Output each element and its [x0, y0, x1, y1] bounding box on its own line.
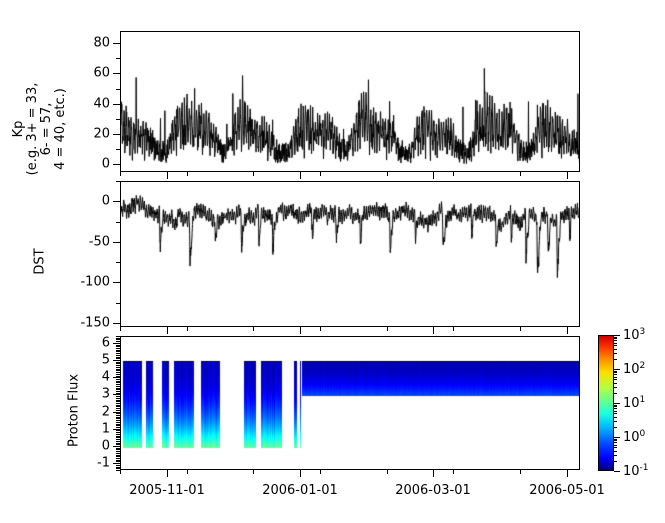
- colorbar-tick-minor: [614, 371, 617, 372]
- y-tick-minor: [116, 336, 120, 337]
- kp-axis-label-line-3: 4 = 40, etc.): [54, 49, 68, 209]
- y-tick-minor: [116, 181, 120, 182]
- y-tick-minor: [116, 388, 120, 389]
- y-tick-minor: [116, 449, 120, 450]
- proton-flux-panel: [120, 336, 580, 470]
- y-tick-minor: [116, 396, 120, 397]
- y-tick-minor: [116, 363, 120, 364]
- y-tick-minor: [116, 425, 120, 426]
- colorbar-tick-major: [614, 335, 620, 336]
- y-tick-major: [113, 463, 120, 464]
- x-tick-minor: [387, 327, 388, 331]
- y-tick-minor: [116, 370, 120, 371]
- y-tick-minor: [116, 443, 120, 444]
- x-tick-minor: [187, 172, 188, 176]
- y-tick-major: [113, 360, 120, 361]
- dst-axis-label: DST: [33, 232, 48, 292]
- colorbar-tick-minor: [614, 408, 617, 409]
- colorbar-tick-minor: [614, 340, 617, 341]
- y-tick-minor: [116, 372, 120, 373]
- y-tick-minor: [116, 374, 120, 375]
- colorbar-tick-minor: [614, 461, 617, 462]
- y-tick-label: -150: [42, 316, 110, 331]
- x-tick-minor: [120, 172, 121, 176]
- colorbar-tick-label: 10-1: [623, 463, 649, 479]
- y-tick-minor: [116, 369, 120, 370]
- colorbar-tick-major: [614, 403, 620, 404]
- y-tick-minor: [116, 458, 120, 459]
- kp-panel: [120, 31, 580, 172]
- dst-panel: [120, 181, 580, 327]
- colorbar-tick-minor: [614, 345, 617, 346]
- y-tick-minor: [116, 461, 120, 462]
- x-tick-label: 2005-11-01: [129, 483, 205, 498]
- colorbar-tick-minor: [614, 379, 617, 380]
- x-tick-major: [300, 327, 301, 334]
- y-tick-minor: [116, 149, 120, 150]
- kp-axis-label-line-0: Kp: [12, 49, 26, 209]
- x-tick-major: [300, 470, 301, 477]
- y-tick-minor: [116, 465, 120, 466]
- y-tick-major: [113, 104, 120, 105]
- y-tick-minor: [116, 405, 120, 406]
- x-tick-minor: [320, 470, 321, 474]
- colorbar-tick-minor: [614, 417, 617, 418]
- y-tick-minor: [116, 393, 120, 394]
- proton-flux-spectrogram: [121, 337, 580, 470]
- y-tick-minor: [116, 410, 120, 411]
- y-tick-minor: [116, 350, 120, 351]
- y-tick-minor: [116, 439, 120, 440]
- y-tick-minor: [116, 460, 120, 461]
- x-tick-major: [433, 327, 434, 334]
- colorbar-tick-minor: [614, 387, 617, 388]
- y-tick-minor: [116, 338, 120, 339]
- colorbar-tick-minor: [614, 406, 617, 407]
- y-tick-minor: [116, 119, 120, 120]
- y-tick-minor: [116, 434, 120, 435]
- y-tick-minor: [116, 398, 120, 399]
- y-tick-minor: [116, 403, 120, 404]
- y-tick-minor: [116, 386, 120, 387]
- y-tick-minor: [116, 430, 120, 431]
- y-tick-minor: [116, 453, 120, 454]
- y-tick-minor: [116, 436, 120, 437]
- y-tick-minor: [116, 422, 120, 423]
- y-tick-minor: [116, 418, 120, 419]
- x-tick-major: [433, 470, 434, 477]
- colorbar-tick-major: [614, 437, 620, 438]
- y-tick-minor: [116, 381, 120, 382]
- colorbar-tick-minor: [614, 374, 617, 375]
- y-tick-major: [113, 201, 120, 202]
- x-tick-major: [567, 172, 568, 179]
- y-tick-minor: [116, 345, 120, 346]
- y-tick-minor: [116, 432, 120, 433]
- x-tick-minor: [387, 470, 388, 474]
- y-tick-minor: [116, 444, 120, 445]
- x-tick-minor: [520, 172, 521, 176]
- x-tick-minor: [187, 470, 188, 474]
- colorbar-tick-major: [614, 369, 620, 370]
- y-tick-major: [113, 343, 120, 344]
- y-tick-minor: [116, 408, 120, 409]
- y-tick-minor: [116, 303, 120, 304]
- y-tick-minor: [116, 362, 120, 363]
- y-tick-minor: [116, 448, 120, 449]
- y-tick-label: -50: [42, 235, 110, 250]
- y-tick-major: [113, 282, 120, 283]
- y-tick-label: 0: [42, 194, 110, 209]
- x-tick-major: [433, 172, 434, 179]
- colorbar-tick-minor: [614, 413, 617, 414]
- y-tick-minor: [116, 358, 120, 359]
- y-tick-minor: [116, 415, 120, 416]
- x-tick-minor: [387, 172, 388, 176]
- kp-axis-label-line-1: (e.g. 3+ = 33,: [26, 49, 40, 209]
- colorbar-tick-minor: [614, 343, 617, 344]
- y-tick-minor: [116, 262, 120, 263]
- colorbar-tick-minor: [614, 445, 617, 446]
- x-tick-minor: [120, 327, 121, 331]
- colorbar-tick-minor: [614, 427, 617, 428]
- x-tick-major: [300, 172, 301, 179]
- x-tick-minor: [520, 327, 521, 331]
- y-tick-minor: [116, 468, 120, 469]
- colorbar-tick-minor: [614, 447, 617, 448]
- x-tick-minor: [520, 470, 521, 474]
- colorbar-tick-minor: [614, 338, 617, 339]
- y-tick-minor: [116, 441, 120, 442]
- colorbar-tick-minor: [614, 411, 617, 412]
- y-tick-minor: [116, 348, 120, 349]
- y-tick-minor: [116, 384, 120, 385]
- y-tick-minor: [116, 391, 120, 392]
- x-tick-label: 2006-01-01: [262, 483, 338, 498]
- y-tick-minor: [116, 406, 120, 407]
- x-tick-minor: [453, 327, 454, 331]
- x-tick-minor: [253, 327, 254, 331]
- y-tick-minor: [116, 420, 120, 421]
- y-tick-major: [113, 73, 120, 74]
- y-tick-major: [113, 323, 120, 324]
- colorbar-tick-minor: [614, 372, 617, 373]
- colorbar-tick-minor: [614, 455, 617, 456]
- proton-flux-kp-dst-figure: 020406080 Kp(e.g. 3+ = 33,6- = 57,4 = 40…: [0, 0, 665, 523]
- colorbar-tick-minor: [614, 393, 617, 394]
- dst-timeseries-plot: [121, 182, 580, 327]
- y-tick-minor: [116, 365, 120, 366]
- y-tick-major: [113, 43, 120, 44]
- colorbar-tick-minor: [614, 359, 617, 360]
- colorbar-tick-minor: [614, 439, 617, 440]
- y-tick-minor: [116, 424, 120, 425]
- y-tick-minor: [116, 351, 120, 352]
- y-tick-minor: [116, 455, 120, 456]
- colorbar-gradient: [598, 335, 614, 471]
- y-tick-label: -100: [42, 275, 110, 290]
- y-tick-minor: [116, 339, 120, 340]
- y-tick-major: [113, 164, 120, 165]
- x-tick-label: 2006-03-01: [395, 483, 471, 498]
- y-tick-major: [113, 394, 120, 395]
- colorbar-tick-minor: [614, 440, 617, 441]
- y-tick-minor: [116, 413, 120, 414]
- y-tick-major: [113, 134, 120, 135]
- kp-axis-label: Kp(e.g. 3+ = 33,6- = 57,4 = 40, etc.): [12, 49, 68, 209]
- y-tick-minor: [116, 427, 120, 428]
- colorbar-tick-minor: [614, 337, 617, 338]
- colorbar-tick-minor: [614, 377, 617, 378]
- colorbar-tick-label: 100: [623, 429, 645, 445]
- x-tick-major: [167, 470, 168, 477]
- y-tick-minor: [116, 401, 120, 402]
- colorbar-tick-minor: [614, 353, 617, 354]
- y-tick-minor: [116, 367, 120, 368]
- colorbar-tick-label: 101: [623, 395, 645, 411]
- x-tick-minor: [120, 470, 121, 474]
- colorbar-tick-minor: [614, 451, 617, 452]
- y-tick-major: [113, 242, 120, 243]
- y-tick-minor: [116, 456, 120, 457]
- y-tick-minor: [116, 222, 120, 223]
- y-tick-minor: [116, 437, 120, 438]
- y-tick-minor: [116, 376, 120, 377]
- colorbar-tick-minor: [614, 442, 617, 443]
- kp-axis-label-line-2: 6- = 57,: [40, 49, 54, 209]
- x-tick-minor: [320, 327, 321, 331]
- y-tick-major: [113, 377, 120, 378]
- y-tick-minor: [116, 400, 120, 401]
- y-tick-minor: [116, 389, 120, 390]
- x-tick-minor: [253, 470, 254, 474]
- colorbar-tick-minor: [614, 421, 617, 422]
- x-tick-major: [167, 327, 168, 334]
- colorbar-tick-minor: [614, 349, 617, 350]
- proton-flux-axis-label: Proton Flux: [67, 351, 82, 471]
- colorbar-tick-label: 102: [623, 361, 645, 377]
- y-tick-minor: [116, 341, 120, 342]
- colorbar-tick-major: [614, 471, 620, 472]
- y-tick-minor: [116, 357, 120, 358]
- colorbar: 10-1100101102103: [598, 335, 614, 471]
- y-tick-minor: [116, 451, 120, 452]
- x-tick-minor: [453, 470, 454, 474]
- colorbar-tick-minor: [614, 383, 617, 384]
- y-tick-minor: [116, 382, 120, 383]
- colorbar-tick-minor: [614, 405, 617, 406]
- x-tick-major: [567, 470, 568, 477]
- x-tick-minor: [320, 172, 321, 176]
- y-tick-label: 6: [42, 336, 110, 351]
- x-tick-minor: [253, 172, 254, 176]
- x-tick-minor: [187, 327, 188, 331]
- x-tick-label: 2006-05-01: [529, 483, 605, 498]
- y-tick-minor: [116, 89, 120, 90]
- x-tick-minor: [453, 172, 454, 176]
- y-tick-minor: [116, 353, 120, 354]
- colorbar-tick-label: 103: [623, 327, 645, 343]
- y-tick-major: [113, 446, 120, 447]
- y-tick-minor: [116, 346, 120, 347]
- y-tick-minor: [116, 467, 120, 468]
- x-tick-major: [167, 172, 168, 179]
- y-tick-minor: [116, 58, 120, 59]
- x-tick-major: [567, 327, 568, 334]
- y-tick-minor: [116, 417, 120, 418]
- y-tick-minor: [116, 355, 120, 356]
- y-tick-minor: [116, 379, 120, 380]
- kp-timeseries-plot: [121, 32, 580, 172]
